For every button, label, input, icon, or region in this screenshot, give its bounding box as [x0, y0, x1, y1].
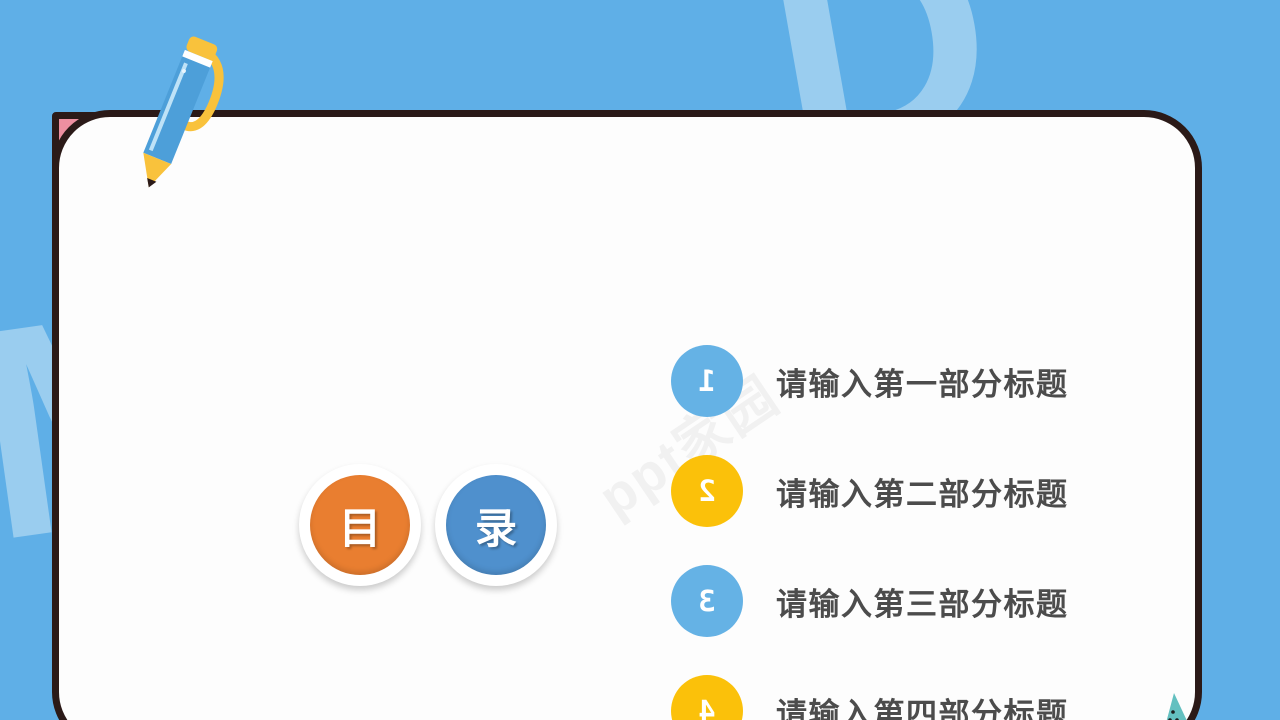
agenda-number-3: 3 — [698, 584, 715, 618]
agenda-number-badge-4: 4 — [671, 675, 743, 720]
agenda-number-badge-1: 1 — [671, 345, 743, 417]
agenda-label-2: 请输入第二部分标题 — [776, 469, 1069, 514]
pencil-cup-icon — [1144, 675, 1202, 720]
agenda-label-1: 请输入第一部分标题 — [776, 359, 1069, 404]
agenda-label-3: 请输入第三部分标题 — [776, 579, 1069, 624]
mulu-badge-lu: 录 — [435, 464, 557, 586]
agenda-label-4: 请输入第四部分标题 — [776, 689, 1069, 720]
agenda-number-1: 1 — [698, 364, 715, 398]
agenda-item-2[interactable]: 2 请输入第二部分标题 — [671, 455, 1151, 527]
agenda-item-1[interactable]: 1 请输入第一部分标题 — [671, 345, 1151, 417]
pencil-icon — [118, 28, 238, 203]
mulu-char-mu: 目 — [310, 475, 410, 575]
mulu-title-group: 目 录 — [299, 464, 569, 589]
slide-canvas: D M ppt家园 目 录 1 请输入第一部分标题 — [0, 0, 1280, 720]
agenda-number-2: 2 — [698, 474, 715, 508]
agenda-number-4: 4 — [698, 694, 715, 720]
mulu-badge-mu: 目 — [299, 464, 421, 586]
agenda-list: 1 请输入第一部分标题 2 请输入第二部分标题 3 请输入第三部分标题 4 — [671, 345, 1151, 720]
agenda-item-3[interactable]: 3 请输入第三部分标题 — [671, 565, 1151, 637]
mulu-char-lu: 录 — [446, 475, 546, 575]
agenda-number-badge-3: 3 — [671, 565, 743, 637]
agenda-number-badge-2: 2 — [671, 455, 743, 527]
agenda-item-4[interactable]: 4 请输入第四部分标题 — [671, 675, 1151, 720]
